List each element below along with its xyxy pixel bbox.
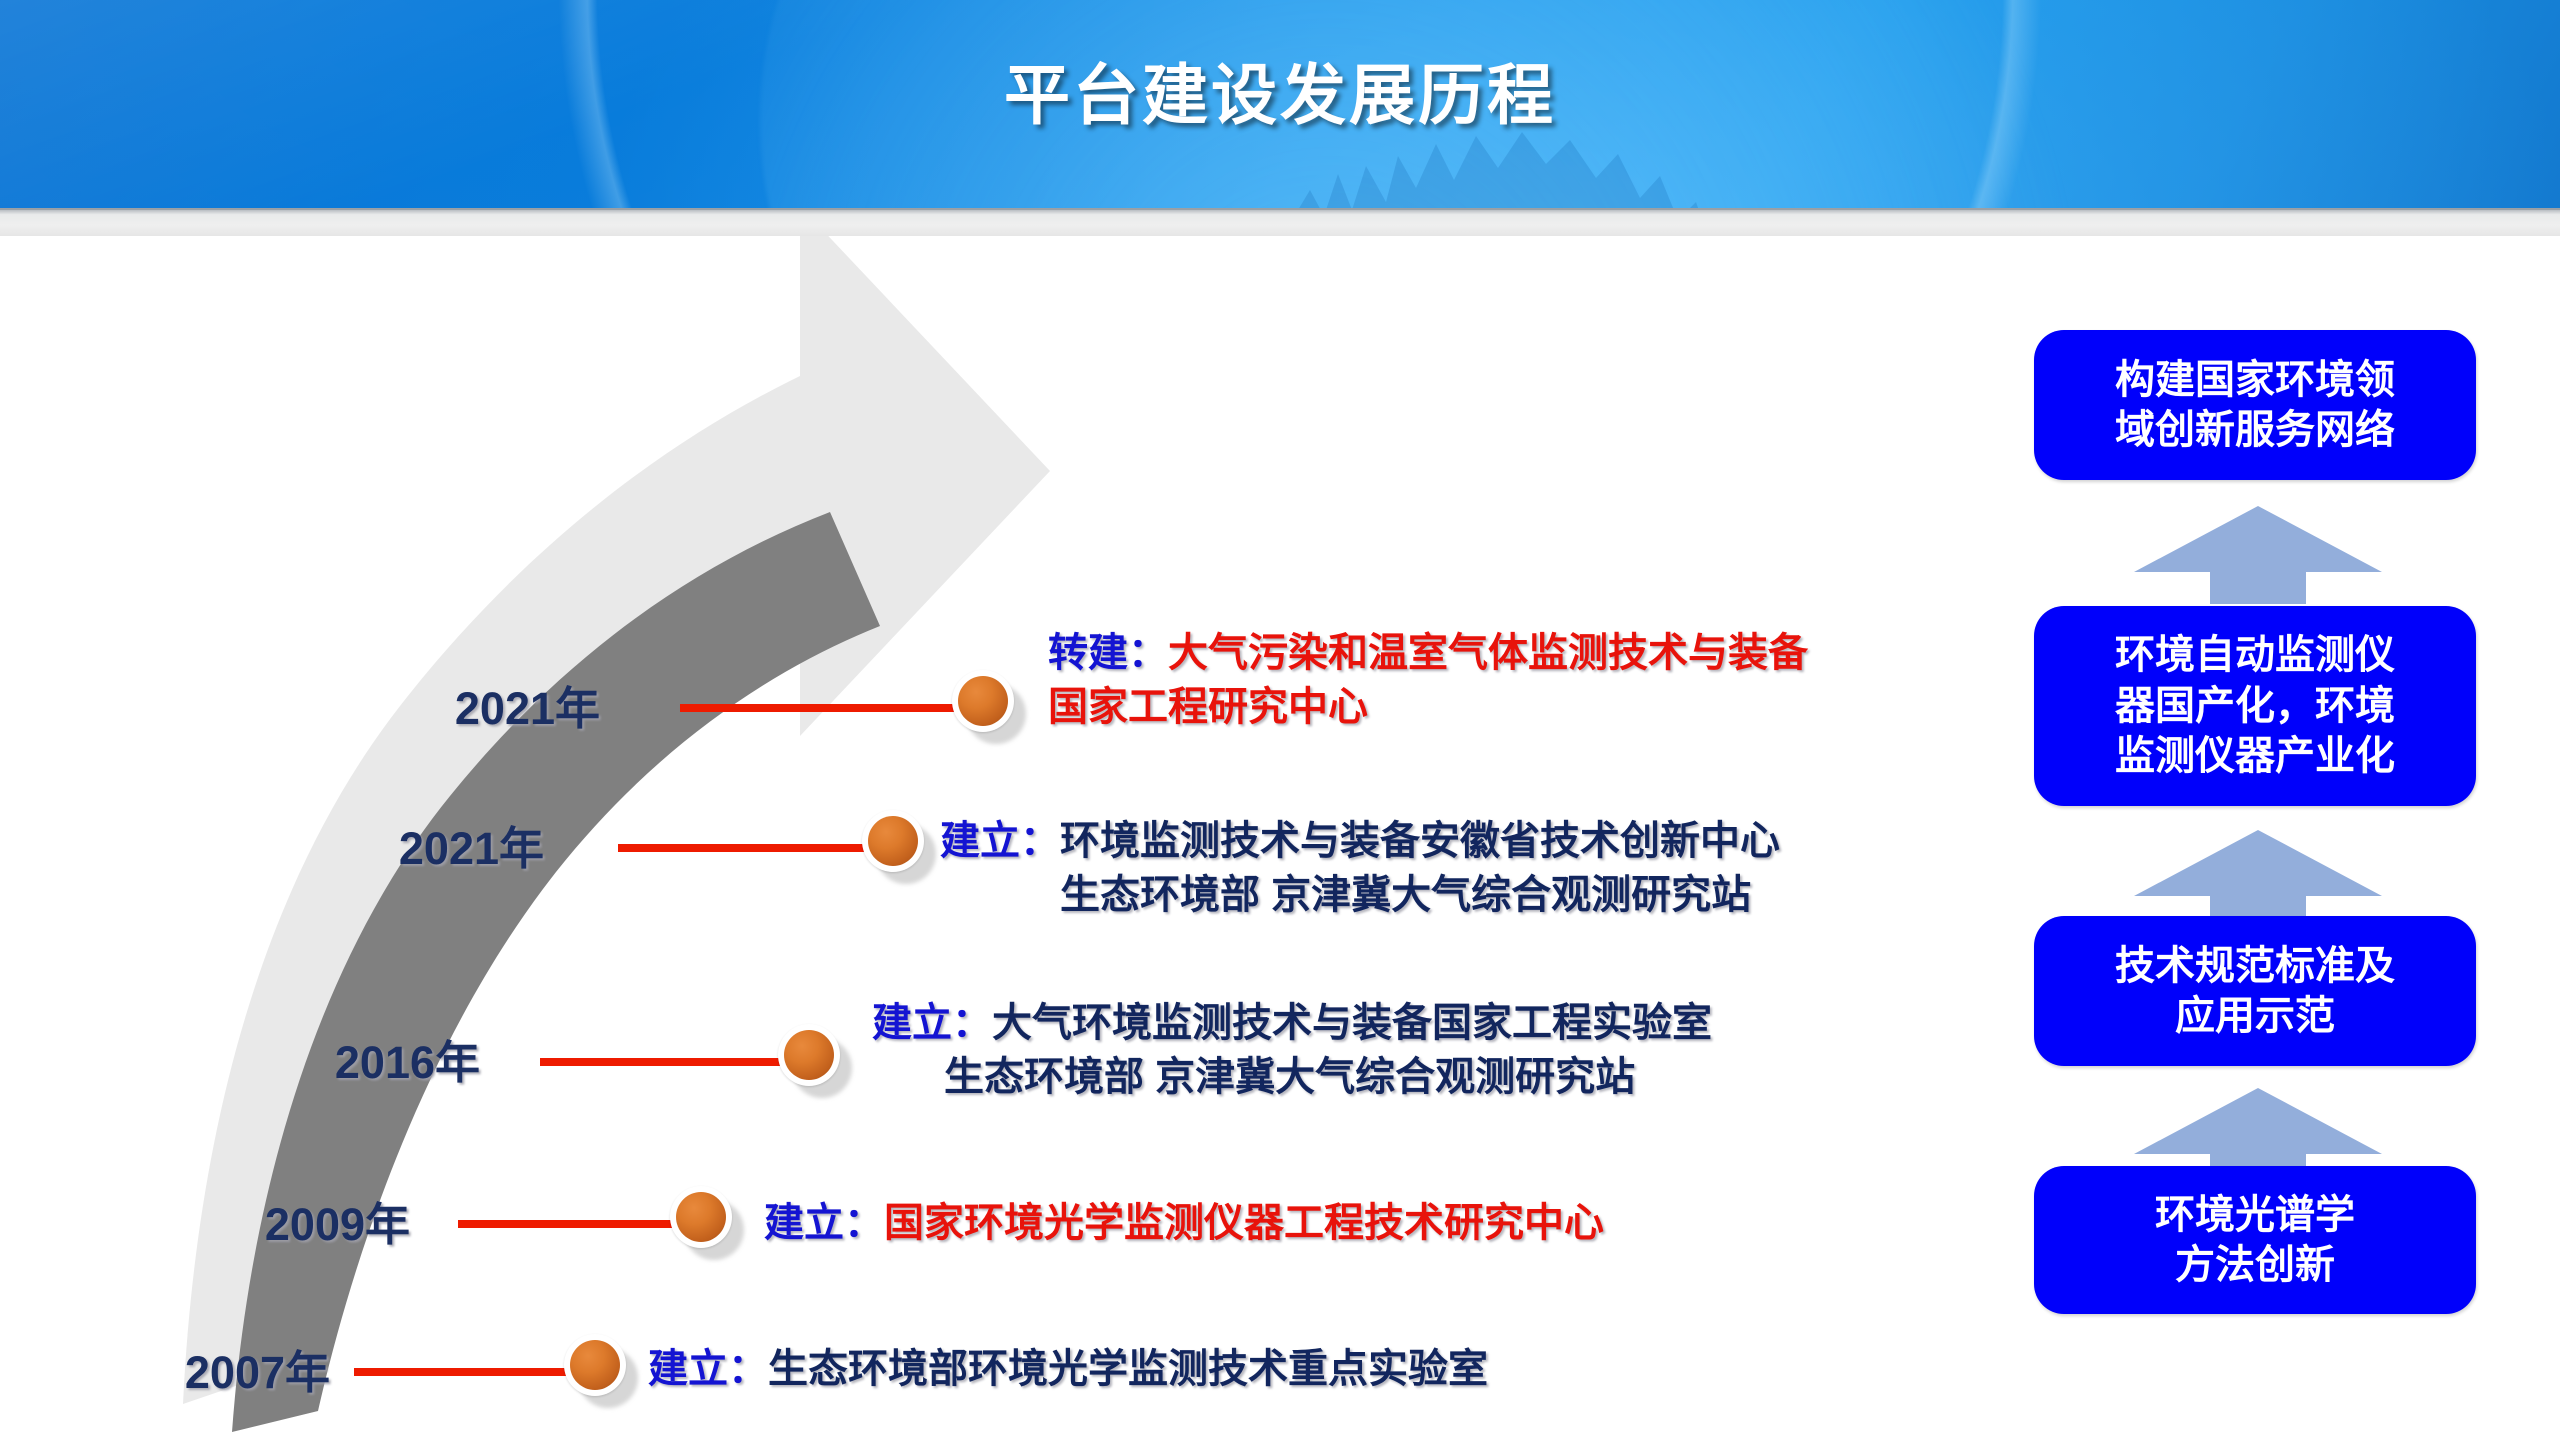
timeline-label: 转建：大气污染和温室气体监测技术与装备 国家工程研究中心 [1048,626,1808,735]
timeline-year: 2016年 [200,1026,480,1091]
timeline-label: 建立：大气环境监测技术与装备国家工程实验室 生态环境部 京津冀大气综合观测研究站 [872,996,1712,1105]
roadmap-box-line: 应用示范 [2105,991,2405,1041]
roadmap-box-bottom[interactable]: 环境光谱学 方法创新 [2034,1166,2476,1314]
timeline-text-line: 生态环境部环境光学监测技术重点实验室 [768,1347,1488,1391]
roadmap-box-3[interactable]: 技术规范标准及 应用示范 [2034,916,2476,1066]
timeline-verb: 建立： [940,819,1060,863]
connector-line [680,704,968,712]
timeline-text-line: 环境监测技术与装备安徽省技术创新中心 [1060,819,1780,863]
timeline-verb: 建立： [764,1201,884,1245]
marker-dot [570,1340,620,1390]
marker-dot [958,676,1008,726]
timeline-marker[interactable] [952,670,1026,744]
timeline-year: 2007年 [50,1336,330,1401]
timeline-text-line: 大气污染和温室气体监测技术与装备 [1168,631,1808,675]
timeline-year: 2021年 [320,672,600,737]
connector-line [540,1058,790,1066]
timeline-text-line: 大气环境监测技术与装备国家工程实验室 [992,1001,1712,1045]
marker-dot [868,816,918,866]
roadmap-box-line: 器国产化，环境 [2105,681,2405,731]
roadmap-box-line: 域创新服务网络 [2105,405,2405,455]
roadmap-arrow-up-icon [2134,500,2382,604]
roadmap-box-top[interactable]: 构建国家环境领 域创新服务网络 [2034,330,2476,480]
timeline-label: 建立：国家环境光学监测仪器工程技术研究中心 [764,1196,1604,1250]
roadmap-box-2[interactable]: 环境自动监测仪 器国产化，环境 监测仪器产业化 [2034,606,2476,806]
connector-line [354,1368,580,1376]
timeline-marker[interactable] [778,1024,852,1098]
roadmap-box-line: 监测仪器产业化 [2105,731,2405,781]
timeline-text-line: 国家环境光学监测仪器工程技术研究中心 [884,1201,1604,1245]
timeline-text-line: 生态环境部 京津冀大气综合观测研究站 [872,1050,1712,1104]
header-banner: 平台建设发展历程 [0,0,2560,208]
timeline-verb: 建立： [648,1347,768,1391]
timeline-year: 2009年 [130,1188,410,1253]
timeline-verb: 转建： [1048,631,1168,675]
timeline-label: 建立：环境监测技术与装备安徽省技术创新中心 生态环境部 京津冀大气综合观测研究站 [940,814,1780,923]
page-title: 平台建设发展历程 [0,42,2560,138]
timeline-marker[interactable] [670,1186,744,1260]
timeline-verb: 建立： [872,1001,992,1045]
timeline-text-line: 生态环境部 京津冀大气综合观测研究站 [940,868,1780,922]
timeline-marker[interactable] [564,1334,638,1408]
roadmap-box-line: 方法创新 [2145,1240,2365,1290]
timeline-label: 建立：生态环境部环境光学监测技术重点实验室 [648,1342,1488,1396]
marker-dot [784,1030,834,1080]
roadmap-box-line: 环境自动监测仪 [2105,630,2405,680]
connector-line [618,844,878,852]
roadmap-box-line: 构建国家环境领 [2105,355,2405,405]
roadmap-box-line: 环境光谱学 [2145,1190,2365,1240]
timeline-text-line: 国家工程研究中心 [1048,680,1808,734]
header-divider [0,208,2560,238]
roadmap-arrow-up-icon [2134,824,2382,928]
timeline-marker[interactable] [862,810,936,884]
connector-line [458,1220,690,1228]
timeline-year: 2021年 [264,812,544,877]
roadmap-box-line: 技术规范标准及 [2105,941,2405,991]
marker-dot [676,1192,726,1242]
